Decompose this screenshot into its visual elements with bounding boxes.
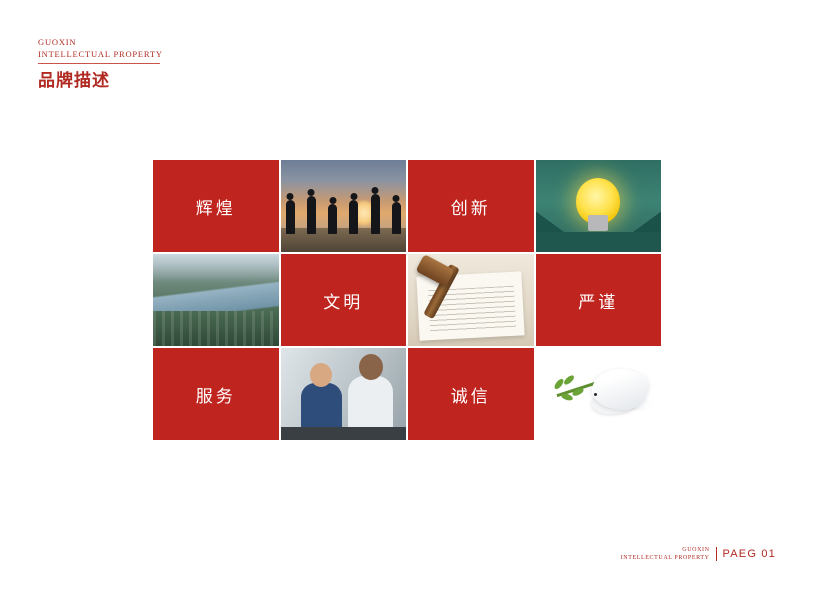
silhouette-figure xyxy=(307,196,316,233)
photo-dove-olive-branch xyxy=(536,348,662,440)
silhouette-figure xyxy=(328,204,337,234)
brand-name-line2: INTELLECTUAL PROPERTY xyxy=(38,48,338,60)
photo-aerial-city-river xyxy=(153,254,279,346)
silhouette-figure xyxy=(392,202,401,234)
silhouette-figure xyxy=(286,200,295,233)
photo-lightbulb-teamwork xyxy=(536,160,662,252)
brand-attributes-grid: 辉煌 创新 xyxy=(153,160,661,440)
footer-brand-line2: INTELLECTUAL PROPERTY xyxy=(621,554,710,562)
olive-leaf-shape xyxy=(562,374,575,386)
cell-yanjin: 严谨 xyxy=(536,254,662,346)
silhouette-figure xyxy=(349,200,358,233)
photo-lightbulb-teamwork-art xyxy=(536,160,662,252)
cell-label: 辉煌 xyxy=(196,194,236,219)
cell-huihuang: 辉煌 xyxy=(153,160,279,252)
silhouette-figures xyxy=(286,186,401,234)
sky-haze-shape xyxy=(153,254,279,282)
photo-aerial-city-river-art xyxy=(153,254,279,346)
cell-chuangxin: 创新 xyxy=(408,160,534,252)
header-divider-rule xyxy=(38,63,160,64)
page-number: PAEG 01 xyxy=(723,548,776,560)
cell-label: 严谨 xyxy=(578,288,618,313)
cell-label: 诚信 xyxy=(451,382,491,407)
cell-label: 服务 xyxy=(196,382,236,407)
photo-silhouettes-sunset xyxy=(281,160,407,252)
slide-header: GUOXIN INTELLECTUAL PROPERTY 品牌描述 xyxy=(38,36,338,92)
footer-divider-rule xyxy=(716,547,717,561)
silhouette-figure xyxy=(371,194,380,233)
cell-wenming: 文明 xyxy=(281,254,407,346)
photo-gavel-document-art xyxy=(408,254,534,346)
footer-brand-line1: GUOXIN xyxy=(621,546,710,554)
page-title: 品牌描述 xyxy=(38,70,338,92)
photo-business-meeting xyxy=(281,348,407,440)
slide-footer: GUOXIN INTELLECTUAL PROPERTY PAEG 01 xyxy=(621,546,776,562)
desk-shape xyxy=(281,427,407,440)
cell-label: 文明 xyxy=(323,288,363,313)
lightbulb-base-shape xyxy=(588,215,608,231)
city-blocks-shape xyxy=(153,311,279,346)
brand-name-line1: GUOXIN xyxy=(38,36,338,48)
photo-business-meeting-art xyxy=(281,348,407,440)
cell-chengxin: 诚信 xyxy=(408,348,534,440)
cell-fuwu: 服务 xyxy=(153,348,279,440)
footer-brand: GUOXIN INTELLECTUAL PROPERTY xyxy=(621,546,710,562)
photo-silhouettes-sunset-art xyxy=(281,160,407,252)
ground-shape xyxy=(536,232,662,252)
photo-gavel-document xyxy=(408,254,534,346)
cell-label: 创新 xyxy=(451,194,491,219)
photo-dove-olive-branch-art xyxy=(536,348,662,440)
